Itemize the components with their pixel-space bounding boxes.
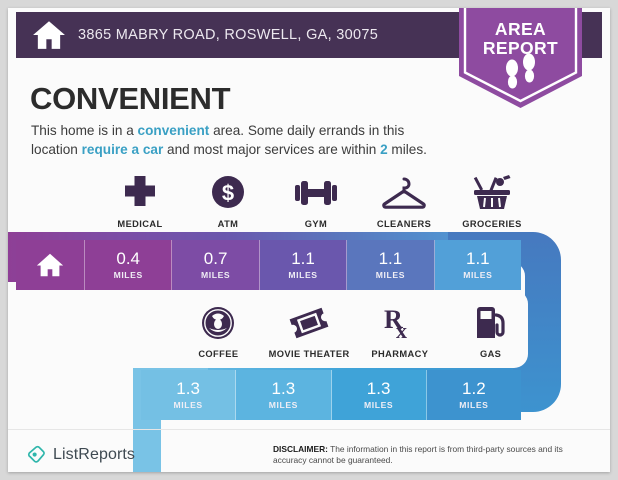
distance-cell-coffee: 1.3 MILES	[141, 370, 236, 420]
badge-line-2: REPORT	[457, 39, 584, 58]
distance-value: 1.3	[367, 380, 391, 398]
distance-row-2: 1.3 MILES 1.3 MILES 1.3 MILES 1.2 MILES	[141, 370, 521, 420]
distance-cell-movie-theater: 1.3 MILES	[236, 370, 331, 420]
category-gym: GYM	[272, 174, 360, 229]
cleaners-hanger-icon	[381, 174, 427, 212]
category-movie-theater: MOVIE THEATER	[264, 304, 355, 359]
distance-cell-medical: 0.4 MILES	[85, 240, 172, 290]
groceries-basket-icon	[470, 174, 514, 212]
medical-cross-icon	[121, 174, 159, 212]
coffee-siren-icon	[199, 304, 237, 342]
area-report-card: 3865 MABRY ROAD, ROSWELL, GA, 30075 AREA…	[8, 8, 610, 472]
badge-label: AREA REPORT	[457, 20, 584, 58]
address-text: 3865 MABRY ROAD, ROSWELL, GA, 30075	[78, 27, 378, 43]
row1-home-cell	[16, 240, 85, 290]
listreports-wordmark: ListReports	[53, 446, 135, 464]
category-label: GAS	[480, 349, 501, 359]
svg-text:$: $	[222, 181, 234, 206]
distance-value: 1.1	[291, 250, 315, 268]
pharmacy-rx-icon: R x	[381, 304, 419, 342]
category-label: GROCERIES	[462, 219, 521, 229]
distance-value: 1.1	[466, 250, 490, 268]
svg-text:x: x	[396, 318, 407, 342]
badge-line-1: AREA	[457, 20, 584, 39]
gas-pump-icon	[472, 304, 510, 342]
category-label: ATM	[218, 219, 239, 229]
category-medical: MEDICAL	[96, 174, 184, 229]
distance-unit: MILES	[114, 270, 143, 280]
distance-unit: MILES	[269, 400, 298, 410]
category-icon-row-1: MEDICAL $ ATM GYM	[96, 174, 536, 229]
category-pharmacy: R x PHARMACY	[355, 304, 446, 359]
listreports-logo: ListReports	[26, 445, 135, 465]
distance-cell-gym: 1.1 MILES	[260, 240, 347, 290]
distance-unit: MILES	[364, 400, 393, 410]
category-icon-row-2: COFFEE MOVIE THEATER R x PHARMACY	[173, 304, 536, 359]
distance-unit: MILES	[376, 270, 405, 280]
category-label: COFFEE	[198, 349, 238, 359]
distance-value: 1.3	[176, 380, 200, 398]
distance-unit: MILES	[459, 400, 488, 410]
category-label: CLEANERS	[377, 219, 431, 229]
gym-dumbbell-icon	[294, 174, 338, 212]
movie-ticket-icon	[288, 304, 330, 342]
distance-unit: MILES	[173, 400, 202, 410]
area-report-badge: AREA REPORT	[457, 8, 584, 110]
distance-cell-cleaners: 1.1 MILES	[347, 240, 434, 290]
disclaimer-label: DISCLAIMER:	[273, 444, 328, 454]
category-coffee: COFFEE	[173, 304, 264, 359]
distance-cell-groceries: 1.1 MILES	[435, 240, 521, 290]
category-gas: GAS	[445, 304, 536, 359]
distance-cell-pharmacy: 1.3 MILES	[332, 370, 427, 420]
home-icon	[35, 250, 65, 280]
atm-dollar-icon: $	[209, 174, 247, 212]
category-cleaners: CLEANERS	[360, 174, 448, 229]
category-groceries: GROCERIES	[448, 174, 536, 229]
distance-value: 1.2	[462, 380, 486, 398]
distance-value: 1.3	[272, 380, 296, 398]
category-label: MEDICAL	[117, 219, 162, 229]
distance-row-1: 0.4 MILES 0.7 MILES 1.1 MILES 1.1 MILES …	[16, 240, 521, 290]
distance-value: 1.1	[379, 250, 403, 268]
distance-unit: MILES	[463, 270, 492, 280]
distance-unit: MILES	[288, 270, 317, 280]
distance-cell-atm: 0.7 MILES	[172, 240, 259, 290]
disclaimer: DISCLAIMER: The information in this repo…	[273, 444, 593, 466]
distance-value: 0.7	[204, 250, 228, 268]
category-label: PHARMACY	[371, 349, 428, 359]
home-icon	[32, 18, 66, 52]
distance-value: 0.4	[116, 250, 140, 268]
category-label: MOVIE THEATER	[269, 349, 350, 359]
category-atm: $ ATM	[184, 174, 272, 229]
category-label: GYM	[305, 219, 327, 229]
listreports-house-tag-icon	[26, 445, 46, 465]
distance-cell-gas: 1.2 MILES	[427, 370, 521, 420]
distance-unit: MILES	[201, 270, 230, 280]
